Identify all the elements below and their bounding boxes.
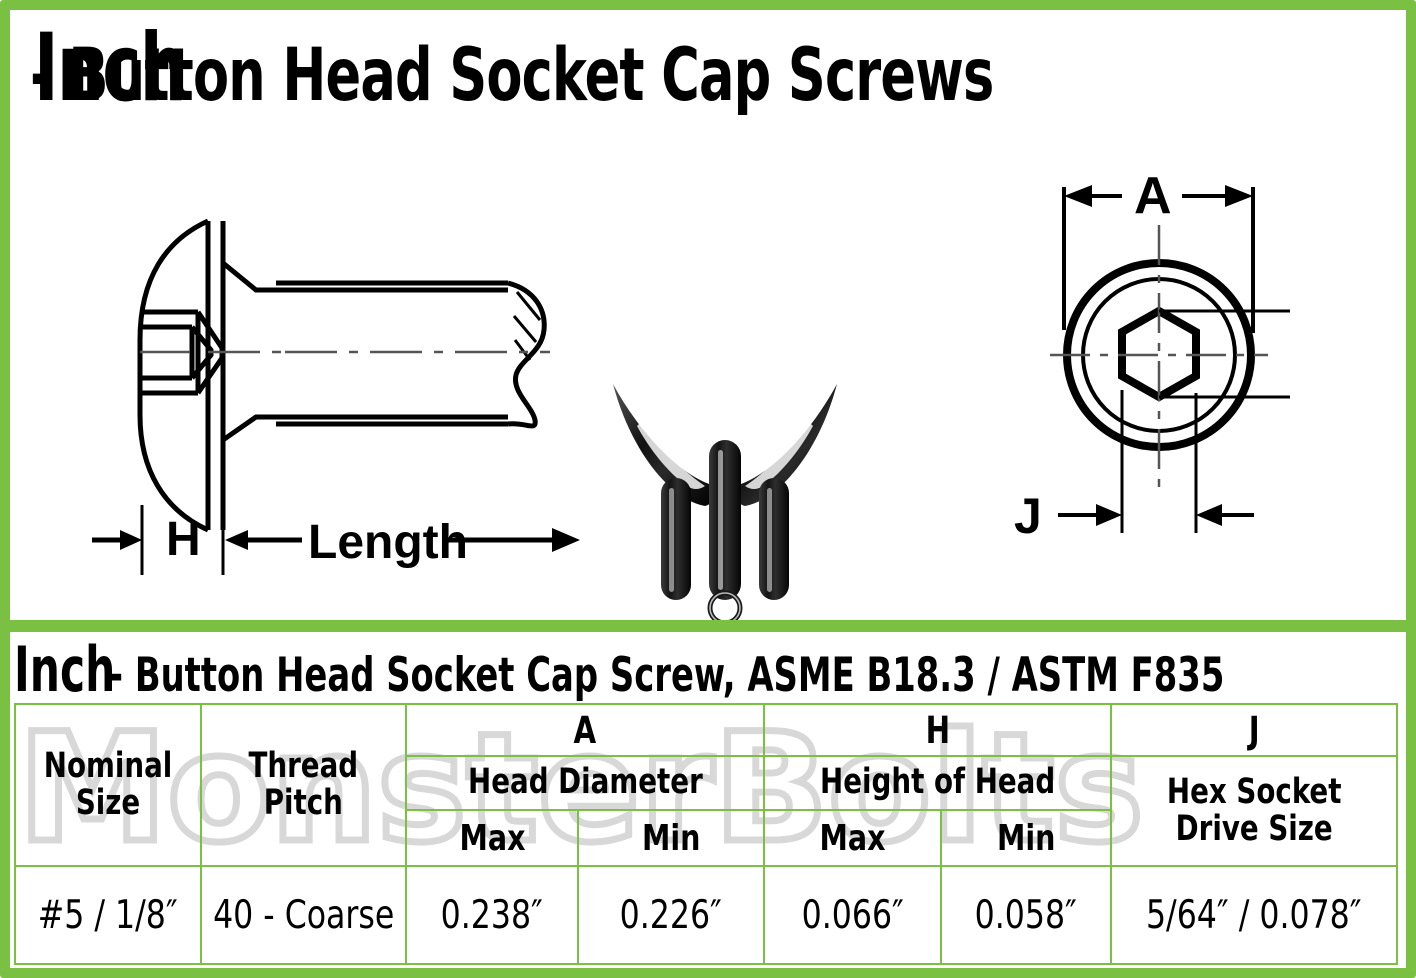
nominal-size-line2: Size (76, 783, 140, 823)
dim-arrow-j-right (1196, 504, 1222, 526)
spec-table-container: NominalSize ThreadPitch A H J (14, 703, 1396, 961)
monster-bolts-logo-mark (605, 380, 845, 630)
col-header-h-min: Min (941, 810, 1111, 866)
group-letter-a: A (406, 704, 764, 756)
dim-arrow-j-left (1096, 504, 1122, 526)
col-header-thread-pitch: ThreadPitch (201, 704, 406, 866)
dim-arrow-length-left (225, 530, 248, 550)
spec-sheet-page: Inch - Button Head Socket Cap Screws (0, 0, 1416, 978)
table-header-row-letters: NominalSize ThreadPitch A H J (15, 704, 1397, 756)
col-header-nominal-size: NominalSize (15, 704, 201, 866)
diagram-panel: Inch - Button Head Socket Cap Screws (10, 10, 1406, 620)
group-letter-h: H (764, 704, 1111, 756)
thread-pitch-line2: Pitch (264, 783, 343, 823)
col-header-h-max: Max (764, 810, 941, 866)
logo-bar-right (759, 478, 789, 600)
logo-bar-center (709, 440, 741, 600)
page-title: Inch - Button Head Socket Cap Screws (34, 26, 1404, 112)
thread-pitch-line1: Thread (249, 746, 359, 786)
dim-arrow-a-right (1225, 185, 1253, 207)
table-title-unit: Inch (14, 638, 115, 702)
panel-divider (0, 620, 1416, 632)
table-row: #5 / 1/8″ 40 - Coarse 0.238″ 0.226″ 0.06… (15, 866, 1397, 964)
screw-side-view-diagram: H Length (80, 170, 600, 590)
spec-table: NominalSize ThreadPitch A H J (14, 703, 1398, 965)
col-header-a-max: Max (406, 810, 578, 866)
group-name-hex-socket-drive: Hex SocketDrive Size (1111, 756, 1397, 866)
screw-top-view-diagram: A J (1010, 165, 1410, 565)
cell-hex-socket-drive: 5/64″ / 0.078″ (1111, 866, 1397, 964)
dim-label-height: H (166, 513, 201, 566)
dim-label-head-diameter: A (1134, 167, 1172, 225)
nominal-size-line1: Nominal (44, 746, 173, 786)
group-name-height-of-head: Height of Head (764, 756, 1111, 810)
dim-arrow-length-right (552, 528, 580, 552)
cell-a-min: 0.226″ (578, 866, 764, 964)
group-name-head-diameter: Head Diameter (406, 756, 764, 810)
col-header-a-min: Min (578, 810, 764, 866)
cell-thread-pitch: 40 - Coarse (201, 866, 406, 964)
cell-h-max: 0.066″ (764, 866, 941, 964)
cell-a-max: 0.238″ (406, 866, 578, 964)
cell-nominal-size: #5 / 1/8″ (15, 866, 201, 964)
logo-bar-left (661, 478, 691, 600)
page-title-rest: - Button Head Socket Cap Screws (30, 33, 993, 119)
hex-socket-line1: Hex Socket (1167, 772, 1342, 812)
group-letter-j: J (1111, 704, 1397, 756)
table-title: Inch - Button Head Socket Cap Screw, ASM… (14, 638, 1396, 702)
dim-arrow-h-left (120, 530, 142, 550)
dim-label-length: Length (308, 516, 468, 569)
dim-label-hex-socket: J (1014, 488, 1042, 544)
cell-h-min: 0.058″ (941, 866, 1111, 964)
hex-socket-line2: Drive Size (1176, 809, 1333, 849)
dim-arrow-a-left (1064, 185, 1092, 207)
table-title-rest: - Button Head Socket Cap Screw, ASME B18… (109, 644, 1224, 702)
